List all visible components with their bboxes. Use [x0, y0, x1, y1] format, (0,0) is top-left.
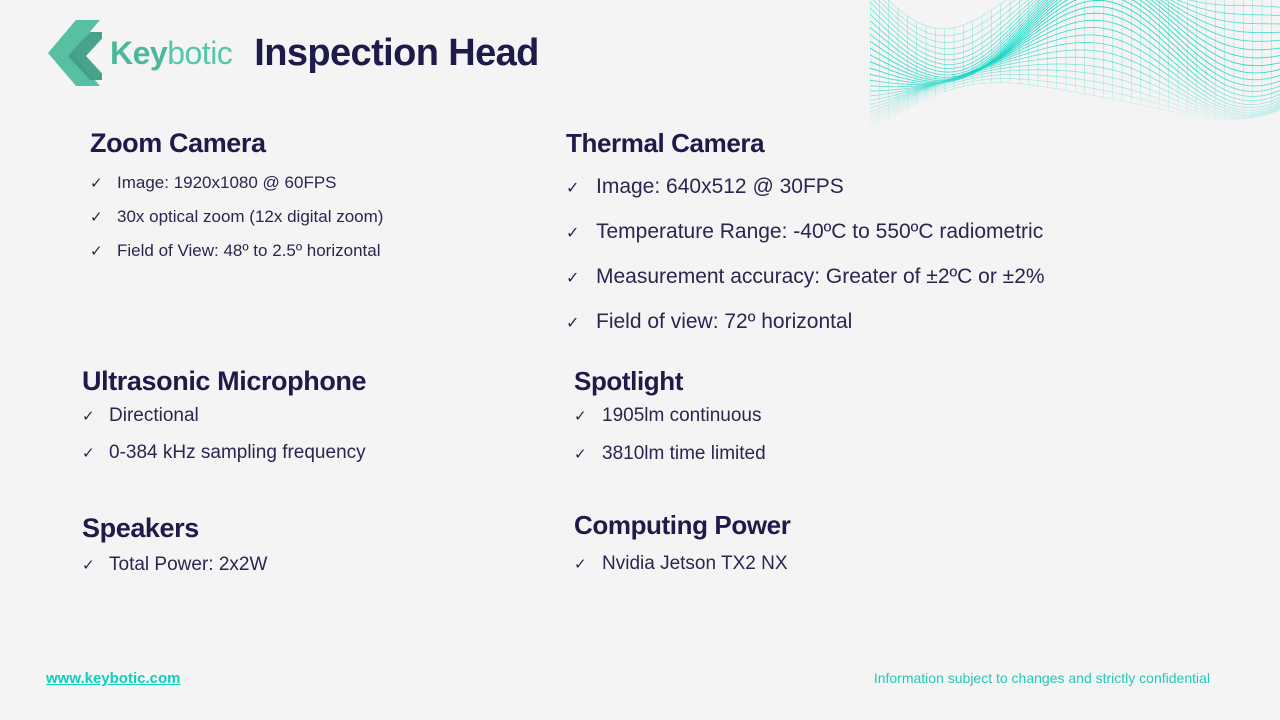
check-icon: ✓ [574, 557, 602, 572]
section-computing-power: Computing Power ✓ Nvidia Jetson TX2 NX [574, 510, 790, 581]
check-icon: ✓ [566, 226, 596, 242]
check-icon: ✓ [90, 176, 117, 191]
list-item-label: Field of view: 72º horizontal [596, 310, 852, 334]
section-spotlight: Spotlight ✓ 1905lm continuous ✓ 3810lm t… [574, 366, 766, 481]
section-title: Thermal Camera [566, 128, 1045, 159]
logo-wordmark: Keybotic [110, 37, 232, 69]
bullet-list: ✓ Image: 1920x1080 @ 60FPS ✓ 30x optical… [90, 173, 383, 261]
section-ultrasonic-microphone: Ultrasonic Microphone ✓ Directional ✓ 0-… [82, 366, 366, 479]
list-item: ✓ Directional [82, 405, 366, 427]
list-item: ✓ Total Power: 2x2W [82, 554, 267, 576]
list-item-label: Nvidia Jetson TX2 NX [602, 553, 788, 575]
list-item-label: 3810lm time limited [602, 443, 766, 465]
check-icon: ✓ [566, 271, 596, 287]
check-icon: ✓ [90, 210, 117, 225]
check-icon: ✓ [574, 447, 602, 462]
bullet-list: ✓ Image: 640x512 @ 30FPS ✓ Temperature R… [566, 175, 1045, 334]
check-icon: ✓ [82, 558, 109, 573]
spec-content: Zoom Camera ✓ Image: 1920x1080 @ 60FPS ✓… [0, 128, 1280, 628]
logo-word-botic: botic [167, 35, 232, 71]
list-item: ✓ 3810lm time limited [574, 443, 766, 465]
section-zoom-camera: Zoom Camera ✓ Image: 1920x1080 @ 60FPS ✓… [90, 128, 383, 275]
list-item: ✓ 1905lm continuous [574, 405, 766, 427]
double-chevron-left-icon [46, 18, 102, 88]
wave-mesh-decoration-icon [870, 0, 1280, 134]
list-item: ✓ Field of view: 72º horizontal [566, 310, 1045, 334]
section-title: Ultrasonic Microphone [82, 366, 366, 397]
section-title: Computing Power [574, 510, 790, 541]
list-item-label: 0-384 kHz sampling frequency [109, 442, 366, 464]
list-item: ✓ 0-384 kHz sampling frequency [82, 442, 366, 464]
check-icon: ✓ [82, 446, 109, 461]
bullet-list: ✓ Nvidia Jetson TX2 NX [574, 553, 790, 575]
footer-website-link[interactable]: www.keybotic.com [46, 670, 180, 687]
section-thermal-camera: Thermal Camera ✓ Image: 640x512 @ 30FPS … [566, 128, 1045, 355]
list-item-label: Directional [109, 405, 199, 427]
list-item-label: Measurement accuracy: Greater of ±2ºC or… [596, 265, 1045, 289]
list-item: ✓ Field of View: 48º to 2.5º horizontal [90, 241, 383, 261]
footer-disclaimer: Information subject to changes and stric… [874, 670, 1210, 686]
list-item: ✓ Image: 1920x1080 @ 60FPS [90, 173, 383, 193]
slide-header: Keybotic Inspection Head [46, 18, 539, 88]
page-title: Inspection Head [254, 32, 539, 75]
list-item-label: Temperature Range: -40ºC to 550ºC radiom… [596, 220, 1043, 244]
section-title: Spotlight [574, 366, 766, 397]
bullet-list: ✓ 1905lm continuous ✓ 3810lm time limite… [574, 405, 766, 465]
bullet-list: ✓ Total Power: 2x2W [82, 554, 267, 576]
logo-word-key: Key [110, 35, 167, 71]
list-item-label: Image: 640x512 @ 30FPS [596, 175, 844, 199]
list-item-label: 30x optical zoom (12x digital zoom) [117, 207, 383, 227]
list-item: ✓ Measurement accuracy: Greater of ±2ºC … [566, 265, 1045, 289]
list-item-label: Total Power: 2x2W [109, 554, 267, 576]
section-speakers: Speakers ✓ Total Power: 2x2W [82, 513, 267, 582]
section-title: Speakers [82, 513, 267, 544]
list-item: ✓ Nvidia Jetson TX2 NX [574, 553, 790, 575]
list-item-label: Field of View: 48º to 2.5º horizontal [117, 241, 380, 261]
list-item: ✓ Image: 640x512 @ 30FPS [566, 175, 1045, 199]
check-icon: ✓ [566, 316, 596, 332]
bullet-list: ✓ Directional ✓ 0-384 kHz sampling frequ… [82, 405, 366, 464]
section-title: Zoom Camera [90, 128, 383, 159]
check-icon: ✓ [82, 409, 109, 424]
check-icon: ✓ [566, 181, 596, 197]
list-item: ✓ 30x optical zoom (12x digital zoom) [90, 207, 383, 227]
list-item: ✓ Temperature Range: -40ºC to 550ºC radi… [566, 220, 1045, 244]
check-icon: ✓ [90, 244, 117, 259]
list-item-label: Image: 1920x1080 @ 60FPS [117, 173, 337, 193]
check-icon: ✓ [574, 409, 602, 424]
list-item-label: 1905lm continuous [602, 405, 762, 427]
